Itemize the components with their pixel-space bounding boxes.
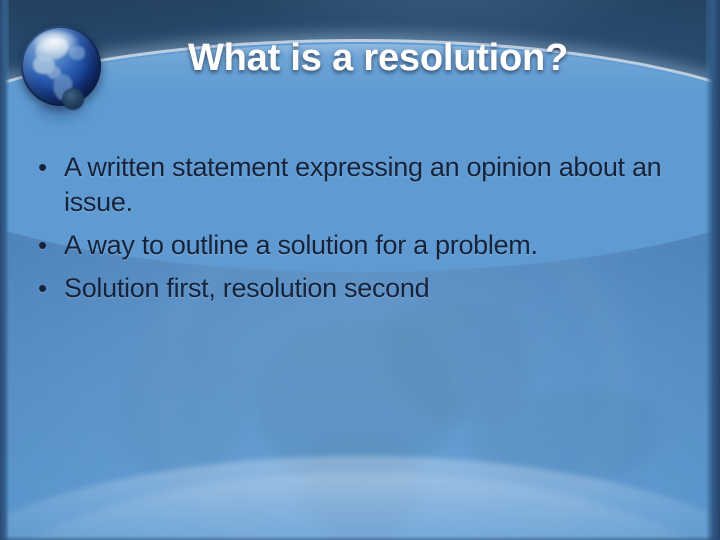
bullet-list: • A written statement expressing an opin… [34, 150, 674, 314]
bullet-text: A written statement expressing an opinio… [64, 150, 674, 220]
list-item: • A written statement expressing an opin… [34, 150, 674, 220]
globe-base-shadow [62, 88, 84, 110]
globe-rim [21, 26, 101, 106]
bullet-marker-icon: • [34, 150, 64, 184]
bullet-marker-icon: • [34, 271, 64, 305]
list-item: • A way to outline a solution for a prob… [34, 228, 674, 263]
right-edge-band [706, 0, 720, 540]
bullet-text: Solution first, resolution second [64, 271, 674, 306]
list-item: • Solution first, resolution second [34, 271, 674, 306]
bullet-text: A way to outline a solution for a proble… [64, 228, 674, 263]
left-edge-band [0, 0, 9, 540]
bullet-marker-icon: • [34, 228, 64, 262]
globe-icon [18, 26, 104, 130]
bottom-edge-band [0, 536, 720, 540]
globe-reflection [28, 104, 94, 128]
slide-title: What is a resolution? [188, 36, 608, 80]
presentation-slide: What is a resolution? • A written statem… [0, 0, 720, 540]
